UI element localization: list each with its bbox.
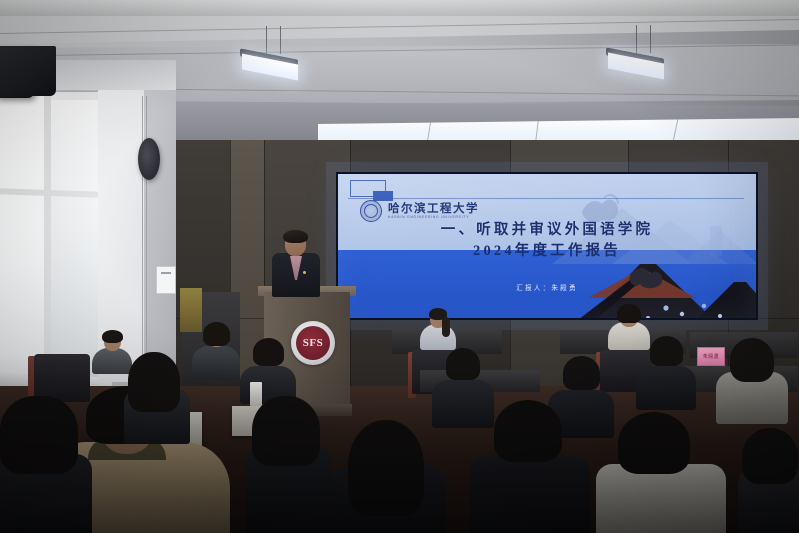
slide-presenter: 汇报人：朱殿勇 [338,282,756,292]
audience-person-foreground [246,396,332,533]
pendant-light-left [236,26,316,84]
projection-screen: 哈尔滨工程大学 HARBIN ENGINEERING UNIVERSITY 一、… [336,172,758,320]
left-window-wall [0,86,176,386]
university-name-en: HARBIN ENGINEERING UNIVERSITY [388,215,479,219]
slide-header-rule [348,198,744,199]
slide-title-line2: 2024年度工作报告 [338,241,756,262]
slide-university-branding: 哈尔滨工程大学 HARBIN ENGINEERING UNIVERSITY [360,200,479,222]
audience-person-foreground [0,396,92,533]
wall-sign [156,266,176,294]
audience-person [636,336,696,406]
audience-person [240,338,296,400]
sfs-emblem-icon: SFS [296,326,330,360]
presentation-slide: 哈尔滨工程大学 HARBIN ENGINEERING UNIVERSITY 一、… [338,174,756,318]
ceiling-beam [0,0,799,16]
wall-fan-icon [138,138,160,180]
audience-person [192,322,240,376]
audience-person-foreground [330,420,446,533]
audience-person [716,338,788,418]
slide-title-line1: 一、听取并审议外国语学院 [338,220,756,241]
podium-emblem: SFS [291,321,335,365]
audience-person-foreground [738,428,799,533]
audience-person-foreground [596,412,726,533]
slide-title: 一、听取并审议外国语学院 2024年度工作报告 [338,220,756,262]
slide-logo-box-icon [350,180,386,197]
window-pane-left [0,96,44,379]
lapel-pin-icon [303,271,306,274]
audience-person [124,352,190,438]
audience-person-foreground [470,400,590,533]
audience-person [420,308,456,342]
university-seal-icon [360,200,382,222]
meeting-room-photo: 哈尔滨工程大学 HARBIN ENGINEERING UNIVERSITY 一、… [0,0,799,533]
pendant-light-right [600,25,680,83]
wall-speaker-icon [0,46,56,96]
podium-emblem-text: SFS [303,337,323,349]
university-name-cn: 哈尔滨工程大学 [388,203,479,215]
presenter-person [272,232,320,294]
